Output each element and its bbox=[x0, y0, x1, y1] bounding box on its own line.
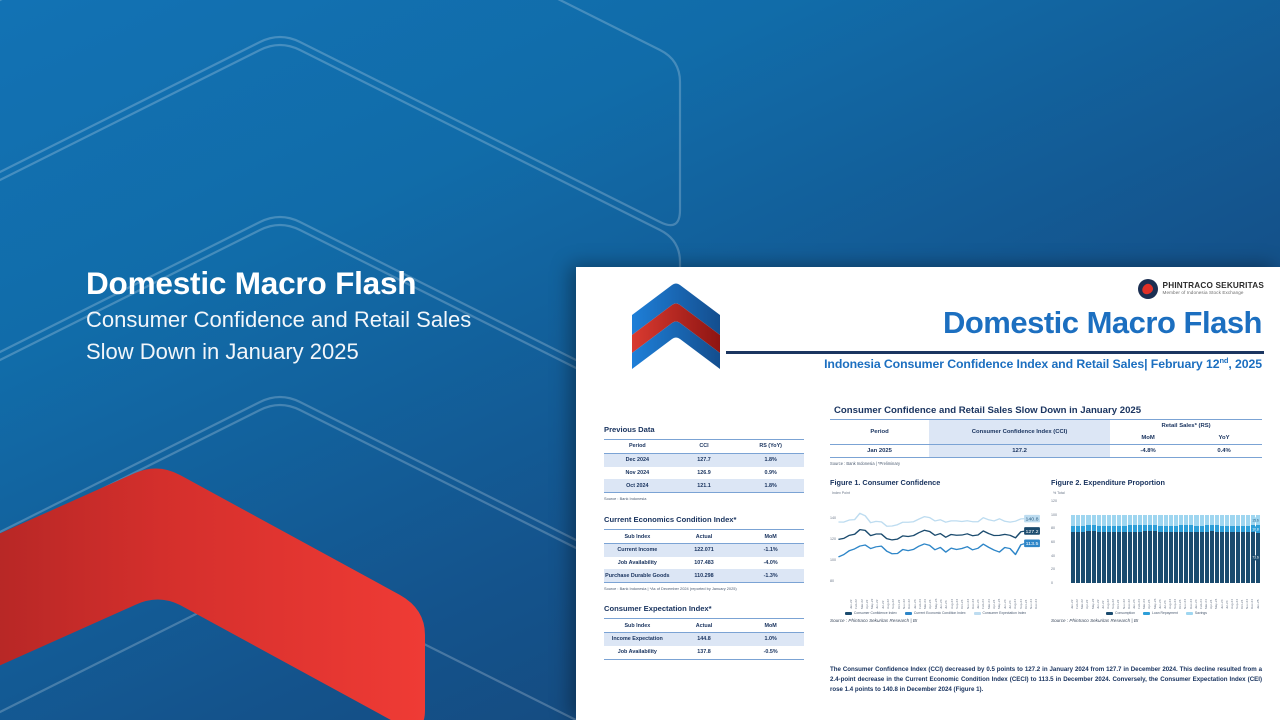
x-tick-label: Nov-23 bbox=[1184, 587, 1187, 609]
y-tick-label: 120 bbox=[1051, 499, 1057, 503]
x-tick-label: May-24 bbox=[998, 587, 1001, 609]
cec-index-table: Sub Index Actual MoM Current Income 122.… bbox=[604, 529, 804, 583]
cell: 107.483 bbox=[671, 557, 738, 570]
x-tick-label: Jan-24 bbox=[977, 587, 980, 609]
bar-column bbox=[1117, 501, 1121, 583]
cell: 127.7 bbox=[671, 453, 738, 466]
table-row: Oct 2024 121.1 1.8% bbox=[604, 479, 804, 492]
bar-segment bbox=[1169, 515, 1173, 526]
y-tick-label: 140 bbox=[830, 516, 836, 520]
x-tick-label: Sep-22 bbox=[892, 587, 895, 609]
bar-segment bbox=[1122, 515, 1126, 526]
bar-segment: 15.6 bbox=[1256, 515, 1260, 526]
x-tick-label: Oct-22 bbox=[898, 587, 901, 609]
bar-segment bbox=[1164, 515, 1168, 526]
summary-table-source: Source : Bank Indonesia | *Preliminary bbox=[830, 461, 1262, 466]
cell: -0.5% bbox=[737, 646, 804, 659]
x-tick-label: Dec-22 bbox=[908, 587, 911, 609]
bar-column bbox=[1133, 501, 1137, 583]
cell: 144.8 bbox=[671, 633, 738, 646]
presentation-slide: Domestic Macro Flash Consumer Confidence… bbox=[0, 0, 1280, 720]
right-column: Period Consumer Confidence Index (CCI) R… bbox=[830, 419, 1262, 623]
bar-segment bbox=[1153, 515, 1157, 526]
bar-segment bbox=[1241, 526, 1245, 533]
bar-column bbox=[1138, 501, 1142, 583]
bar-column bbox=[1081, 501, 1085, 583]
svg-text:140.8: 140.8 bbox=[1025, 517, 1039, 522]
x-tick-label: Jun-23 bbox=[1159, 587, 1162, 609]
bar-segment bbox=[1184, 532, 1188, 583]
bar-segment bbox=[1241, 532, 1245, 583]
x-tick-label: Jul-23 bbox=[1164, 587, 1167, 609]
bar-column bbox=[1189, 501, 1193, 583]
bar-segment bbox=[1128, 532, 1132, 583]
table-header-row: Sub Index Actual MoM bbox=[604, 619, 804, 633]
bar-segment bbox=[1148, 515, 1152, 525]
table-row: Dec 2024 127.7 1.8% bbox=[604, 453, 804, 466]
figure-2-source: Source : Phintraco Sekuritas Research | … bbox=[1051, 618, 1262, 623]
document-subtitle-tail: , 2025 bbox=[1228, 357, 1262, 371]
bar-segment bbox=[1179, 515, 1183, 526]
bar-segment bbox=[1215, 532, 1219, 583]
bar-segment bbox=[1189, 532, 1193, 583]
bar-column bbox=[1241, 501, 1245, 583]
x-tick-label: Dec-23 bbox=[1190, 587, 1193, 609]
figure-2-title: Figure 2. Expenditure Proportion bbox=[1051, 478, 1262, 487]
bar-segment bbox=[1071, 515, 1075, 526]
figure-1-lines: 127.2113.5140.8 bbox=[830, 497, 1041, 581]
bar-segment bbox=[1117, 532, 1121, 583]
cec-index-source: Source : Bank Indonesia | *As of Decembe… bbox=[604, 586, 804, 591]
previous-data-source: Source : Bank Indonesia bbox=[604, 496, 804, 501]
bar-segment bbox=[1133, 532, 1137, 583]
cell: 110.298 bbox=[671, 569, 738, 582]
x-tick-label: Aug-23 bbox=[951, 587, 954, 609]
x-tick-label: May-23 bbox=[1154, 587, 1157, 609]
bar-segment bbox=[1138, 515, 1142, 526]
column-header: Period bbox=[604, 440, 671, 454]
bar-column bbox=[1148, 501, 1152, 583]
bar-segment bbox=[1169, 526, 1173, 533]
x-tick-label: Jan-23 bbox=[914, 587, 917, 609]
cell: Nov 2024 bbox=[604, 467, 671, 480]
bar-segment bbox=[1158, 515, 1162, 526]
cell: Oct 2024 bbox=[604, 479, 671, 492]
cell: 126.9 bbox=[671, 467, 738, 480]
cell: 0.4% bbox=[1186, 445, 1262, 458]
ce-index-title: Consumer Expectation Index* bbox=[604, 604, 804, 613]
x-tick-label: Oct-22 bbox=[1117, 587, 1120, 609]
x-tick-label: Jul-23 bbox=[945, 587, 948, 609]
x-tick-label: May-22 bbox=[871, 587, 874, 609]
figure-1-legend: Consumer Confidence IndexCurrent Economi… bbox=[830, 611, 1041, 615]
x-tick-label: Dec-23 bbox=[972, 587, 975, 609]
bar-segment bbox=[1205, 515, 1209, 526]
column-header: RS (YoY) bbox=[737, 440, 804, 454]
column-header: MoM bbox=[1110, 432, 1186, 445]
x-tick-label: Feb-22 bbox=[855, 587, 858, 609]
bar-column bbox=[1194, 501, 1198, 583]
column-header: Consumer Confidence Index (CCI) bbox=[929, 420, 1110, 445]
x-tick-label: Apr-24 bbox=[1210, 587, 1213, 609]
bar-segment bbox=[1086, 515, 1090, 525]
cell: -1.3% bbox=[737, 569, 804, 582]
bar-segment bbox=[1158, 532, 1162, 583]
bar-segment bbox=[1102, 515, 1106, 526]
figure-2: Figure 2. Expenditure Proportion % Total… bbox=[1051, 478, 1262, 623]
x-tick-label: Nov-24 bbox=[1030, 587, 1033, 609]
cell: Income Expectation bbox=[604, 633, 671, 646]
x-tick-label: Sep-23 bbox=[956, 587, 959, 609]
bar-column bbox=[1246, 501, 1250, 583]
x-tick-label: May-22 bbox=[1092, 587, 1095, 609]
x-tick-label: Feb-23 bbox=[919, 587, 922, 609]
table-row: Jan 2025 127.2 -4.8% 0.4% bbox=[830, 445, 1262, 458]
x-tick-label: Nov-22 bbox=[903, 587, 906, 609]
ce-index-table: Sub Index Actual MoM Income Expectation … bbox=[604, 618, 804, 659]
slide-title: Domestic Macro Flash bbox=[86, 266, 516, 300]
column-header: MoM bbox=[737, 530, 804, 544]
document-headline: Consumer Confidence and Retail Sales Slo… bbox=[834, 405, 1141, 416]
red-chevron-graphic bbox=[0, 455, 440, 720]
figure-1-xticks: Jan-22Feb-22Mar-22Apr-22May-22Jun-22Jul-… bbox=[850, 587, 1039, 609]
cell: -1.1% bbox=[737, 543, 804, 556]
figure-1-plot: Index Point 127.2113.5140.8 80100120140 … bbox=[830, 491, 1041, 609]
x-tick-label: Apr-22 bbox=[866, 587, 869, 609]
x-tick-label: Jun-22 bbox=[876, 587, 879, 609]
bar-segment bbox=[1143, 531, 1147, 583]
bar-segment bbox=[1236, 532, 1240, 583]
bar-segment bbox=[1200, 515, 1204, 526]
cec-index-title: Current Economics Condition Index* bbox=[604, 515, 804, 524]
cell: -4.0% bbox=[737, 557, 804, 570]
bar-segment bbox=[1153, 531, 1157, 583]
bar-segment: 10.8 bbox=[1256, 525, 1260, 532]
bar-segment bbox=[1092, 531, 1096, 583]
legend-swatch bbox=[1186, 612, 1193, 615]
figure-2-ylabel: % Total bbox=[1053, 491, 1065, 495]
bar-segment bbox=[1112, 515, 1116, 526]
bar-column bbox=[1200, 501, 1204, 583]
column-header: Sub Index bbox=[604, 530, 671, 544]
bar-column bbox=[1184, 501, 1188, 583]
legend-swatch bbox=[974, 612, 981, 615]
bar-segment bbox=[1179, 532, 1183, 583]
x-tick-label: Aug-24 bbox=[1014, 587, 1017, 609]
cell: Job Availability bbox=[604, 646, 671, 659]
bar-segment bbox=[1194, 515, 1198, 526]
bar-segment bbox=[1169, 532, 1173, 583]
bar-column bbox=[1174, 501, 1178, 583]
bar-segment bbox=[1081, 515, 1085, 526]
ce-index-section: Consumer Expectation Index* Sub Index Ac… bbox=[604, 604, 804, 659]
x-tick-label: Dec-24 bbox=[1035, 587, 1038, 609]
bar-column bbox=[1107, 501, 1111, 583]
x-tick-label: Jun-22 bbox=[1097, 587, 1100, 609]
x-tick-label: Jan-22 bbox=[1071, 587, 1074, 609]
legend-swatch bbox=[1106, 612, 1113, 615]
figure-1-ylabel: Index Point bbox=[832, 491, 850, 495]
legend-label: Savings bbox=[1195, 611, 1207, 615]
legend-item: Consumer Expectation Index bbox=[974, 611, 1027, 615]
x-tick-label: Aug-24 bbox=[1231, 587, 1234, 609]
table-row: Purchase Durable Goods 110.298 -1.3% bbox=[604, 569, 804, 582]
y-tick-label: 120 bbox=[830, 537, 836, 541]
cell: 1.8% bbox=[737, 479, 804, 492]
x-tick-label: Jul-24 bbox=[1226, 587, 1229, 609]
x-tick-label: Feb-23 bbox=[1138, 587, 1141, 609]
bar-segment: 73.6 bbox=[1256, 533, 1260, 583]
cell: Purchase Durable Goods bbox=[604, 569, 671, 582]
x-tick-label: Nov-23 bbox=[967, 587, 970, 609]
bar-column bbox=[1164, 501, 1168, 583]
bar-segment bbox=[1076, 515, 1080, 526]
figure-2-plot: % Total 020406080100120 15.610.873.6 Jan… bbox=[1051, 491, 1262, 609]
bar-segment bbox=[1220, 532, 1224, 583]
x-tick-label: Feb-22 bbox=[1076, 587, 1079, 609]
legend-label: Consumption bbox=[1115, 611, 1135, 615]
cell: Jan 2025 bbox=[830, 445, 929, 458]
bar-column bbox=[1230, 501, 1234, 583]
svg-text:113.5: 113.5 bbox=[1026, 542, 1039, 547]
column-header: CCI bbox=[671, 440, 738, 454]
bar-column bbox=[1128, 501, 1132, 583]
cec-index-section: Current Economics Condition Index* Sub I… bbox=[604, 515, 804, 591]
column-header: Sub Index bbox=[604, 619, 671, 633]
document-preview[interactable]: PHINTRACO SEKURITAS Member of Indonesia … bbox=[576, 267, 1280, 720]
bar-segment bbox=[1205, 532, 1209, 583]
x-tick-label: May-23 bbox=[935, 587, 938, 609]
y-tick-label: 80 bbox=[1051, 526, 1055, 530]
x-tick-label: Jul-24 bbox=[1009, 587, 1012, 609]
bar-segment bbox=[1174, 532, 1178, 583]
document-subtitle: Indonesia Consumer Confidence Index and … bbox=[824, 356, 1262, 371]
table-row: Job Availability 107.483 -4.0% bbox=[604, 557, 804, 570]
figure-1-title: Figure 1. Consumer Confidence bbox=[830, 478, 1041, 487]
legend-label: Consumer Expectation Index bbox=[983, 611, 1027, 615]
column-header: Actual bbox=[671, 530, 738, 544]
bar-segment bbox=[1225, 532, 1229, 583]
phintraco-mark-icon bbox=[1138, 279, 1158, 299]
bar-column bbox=[1205, 501, 1209, 583]
phintraco-sekuritas-logo: PHINTRACO SEKURITAS Member of Indonesia … bbox=[1138, 279, 1264, 299]
legend-item: Savings bbox=[1186, 611, 1207, 615]
x-tick-label: Jan-24 bbox=[1195, 587, 1198, 609]
figure-2-legend: ConsumptionLoan RepaymentSavings bbox=[1051, 611, 1262, 615]
y-tick-label: 100 bbox=[1051, 513, 1057, 517]
bar-segment bbox=[1092, 515, 1096, 526]
bar-segment bbox=[1230, 515, 1234, 526]
bar-segment bbox=[1246, 515, 1250, 526]
column-header: MoM bbox=[737, 619, 804, 633]
cell: 121.1 bbox=[671, 479, 738, 492]
left-column: Previous Data Period CCI RS (YoY) Dec 20… bbox=[604, 425, 804, 660]
cell: 1.0% bbox=[737, 633, 804, 646]
x-tick-label: Jan-25 bbox=[1257, 587, 1260, 609]
bar-column bbox=[1071, 501, 1075, 583]
bar-segment bbox=[1184, 515, 1188, 526]
legend-item: Consumption bbox=[1106, 611, 1135, 615]
legend-item: Current Economic Condition Index bbox=[905, 611, 966, 615]
table-row: Income Expectation 144.8 1.0% bbox=[604, 633, 804, 646]
x-tick-label: Dec-22 bbox=[1128, 587, 1131, 609]
y-tick-label: 0 bbox=[1051, 581, 1053, 585]
cell: 137.8 bbox=[671, 646, 738, 659]
legend-item: Consumer Confidence Index bbox=[845, 611, 897, 615]
bar-segment bbox=[1097, 532, 1101, 583]
bar-segment bbox=[1122, 532, 1126, 583]
column-header: Actual bbox=[671, 619, 738, 633]
bar-segment bbox=[1143, 515, 1147, 526]
document-subtitle-text: Indonesia Consumer Confidence Index and … bbox=[824, 357, 1219, 371]
x-tick-label: Jun-23 bbox=[940, 587, 943, 609]
x-tick-label: Dec-24 bbox=[1251, 587, 1254, 609]
previous-data-title: Previous Data bbox=[604, 425, 804, 434]
bar-segment bbox=[1086, 531, 1090, 583]
cell: -4.8% bbox=[1110, 445, 1186, 458]
x-tick-label: Oct-24 bbox=[1025, 587, 1028, 609]
summary-table: Period Consumer Confidence Index (CCI) R… bbox=[830, 419, 1262, 458]
bar-column bbox=[1210, 501, 1214, 583]
header-rule bbox=[726, 351, 1264, 354]
table-row: Job Availability 137.8 -0.5% bbox=[604, 646, 804, 659]
bar-column bbox=[1251, 501, 1255, 583]
document-header: PHINTRACO SEKURITAS Member of Indonesia … bbox=[576, 267, 1280, 377]
bar-segment bbox=[1225, 526, 1229, 533]
bar-column bbox=[1169, 501, 1173, 583]
bar-segment bbox=[1102, 532, 1106, 583]
previous-data-table: Period CCI RS (YoY) Dec 2024 127.7 1.8% bbox=[604, 439, 804, 493]
cell: 122.071 bbox=[671, 543, 738, 556]
x-tick-label: Sep-24 bbox=[1020, 587, 1023, 609]
bar-column bbox=[1112, 501, 1116, 583]
table-header-row: Sub Index Actual MoM bbox=[604, 530, 804, 544]
x-tick-label: Jan-22 bbox=[850, 587, 853, 609]
figure-2-xticks: Jan-22Feb-22Mar-22Apr-22May-22Jun-22Jul-… bbox=[1071, 587, 1260, 609]
bar-segment bbox=[1194, 532, 1198, 583]
bar-segment bbox=[1071, 532, 1075, 583]
table-header-row: Period CCI RS (YoY) bbox=[604, 440, 804, 454]
document-paragraph: The Consumer Confidence Index (CCI) decr… bbox=[830, 665, 1262, 695]
column-header: Retail Sales* (RS) bbox=[1110, 420, 1262, 433]
bar-column bbox=[1153, 501, 1157, 583]
slide-subtitle: Consumer Confidence and Retail Sales Slo… bbox=[86, 304, 516, 368]
bar-segment bbox=[1225, 515, 1229, 526]
bar-segment bbox=[1138, 532, 1142, 583]
bar-segment bbox=[1164, 532, 1168, 583]
table-row: Nov 2024 126.9 0.9% bbox=[604, 467, 804, 480]
legend-swatch bbox=[845, 612, 852, 615]
bar-segment bbox=[1107, 515, 1111, 526]
cell: Current Income bbox=[604, 543, 671, 556]
cell: 0.9% bbox=[737, 467, 804, 480]
bar-segment bbox=[1097, 515, 1101, 526]
x-tick-label: Apr-23 bbox=[1148, 587, 1151, 609]
x-tick-label: May-24 bbox=[1215, 587, 1218, 609]
figure-1-source: Source : Phintraco Sekuritas Research | … bbox=[830, 618, 1041, 623]
bar-segment bbox=[1200, 532, 1204, 583]
x-tick-label: Feb-24 bbox=[1200, 587, 1203, 609]
cell: 127.2 bbox=[929, 445, 1110, 458]
bar-segment bbox=[1241, 515, 1245, 526]
x-tick-label: Mar-23 bbox=[924, 587, 927, 609]
bar-segment bbox=[1148, 531, 1152, 583]
bar-segment bbox=[1112, 532, 1116, 583]
column-header: YoY bbox=[1186, 432, 1262, 445]
bar-column bbox=[1225, 501, 1229, 583]
x-tick-label: Oct-24 bbox=[1241, 587, 1244, 609]
bar-segment bbox=[1107, 532, 1111, 583]
y-tick-label: 100 bbox=[830, 558, 836, 562]
bar-column bbox=[1158, 501, 1162, 583]
x-tick-label: Jan-23 bbox=[1133, 587, 1136, 609]
slide-title-block: Domestic Macro Flash Consumer Confidence… bbox=[86, 266, 516, 368]
svg-text:127.2: 127.2 bbox=[1025, 529, 1039, 534]
bar-column bbox=[1102, 501, 1106, 583]
bar-column bbox=[1215, 501, 1219, 583]
bar-segment bbox=[1133, 515, 1137, 526]
bar-segment bbox=[1128, 515, 1132, 526]
bar-segment bbox=[1236, 515, 1240, 526]
bar-column bbox=[1086, 501, 1090, 583]
bar-column bbox=[1092, 501, 1096, 583]
x-tick-label: Mar-24 bbox=[1205, 587, 1208, 609]
legend-label: Loan Repayment bbox=[1152, 611, 1178, 615]
phintraco-chevron-logo-icon bbox=[628, 277, 724, 369]
cell: Dec 2024 bbox=[604, 453, 671, 466]
legend-label: Current Economic Condition Index bbox=[914, 611, 966, 615]
x-tick-label: Sep-23 bbox=[1174, 587, 1177, 609]
table-row: Current Income 122.071 -1.1% bbox=[604, 543, 804, 556]
y-tick-label: 20 bbox=[1051, 567, 1055, 571]
bar-segment bbox=[1246, 532, 1250, 583]
x-tick-label: Mar-22 bbox=[1081, 587, 1084, 609]
bar-segment bbox=[1215, 515, 1219, 526]
x-tick-label: Feb-24 bbox=[982, 587, 985, 609]
column-header: Period bbox=[830, 420, 929, 445]
bar-column bbox=[1220, 501, 1224, 583]
y-tick-label: 60 bbox=[1051, 540, 1055, 544]
bar-column bbox=[1236, 501, 1240, 583]
figure-1: Figure 1. Consumer Confidence Index Poin… bbox=[830, 478, 1041, 623]
cell: 1.8% bbox=[737, 453, 804, 466]
bar-column bbox=[1076, 501, 1080, 583]
legend-item: Loan Repayment bbox=[1143, 611, 1178, 615]
x-tick-label: Sep-24 bbox=[1236, 587, 1239, 609]
figures-row: Figure 1. Consumer Confidence Index Poin… bbox=[830, 478, 1262, 623]
bar-segment bbox=[1076, 532, 1080, 583]
bar-segment bbox=[1117, 515, 1121, 526]
x-tick-label: Oct-23 bbox=[1179, 587, 1182, 609]
bar-column: 15.610.873.6 bbox=[1256, 501, 1260, 583]
x-tick-label: Aug-23 bbox=[1169, 587, 1172, 609]
legend-label: Consumer Confidence Index bbox=[854, 611, 897, 615]
legend-swatch bbox=[1143, 612, 1150, 615]
x-tick-label: Apr-22 bbox=[1086, 587, 1089, 609]
y-tick-label: 80 bbox=[830, 579, 834, 583]
x-tick-label: Mar-24 bbox=[988, 587, 991, 609]
x-tick-label: Sep-22 bbox=[1112, 587, 1115, 609]
x-tick-label: Jun-24 bbox=[1221, 587, 1224, 609]
bar-segment bbox=[1230, 532, 1234, 583]
brand-tagline: Member of Indonesia Stock Exchange bbox=[1163, 291, 1264, 296]
figure-2-bars: 15.610.873.6 bbox=[1071, 501, 1260, 583]
bar-value-label: 10.8 bbox=[1251, 526, 1260, 531]
bar-column bbox=[1179, 501, 1183, 583]
x-tick-label: Aug-22 bbox=[1107, 587, 1110, 609]
document-title: Domestic Macro Flash bbox=[943, 305, 1262, 341]
bar-segment bbox=[1081, 532, 1085, 583]
